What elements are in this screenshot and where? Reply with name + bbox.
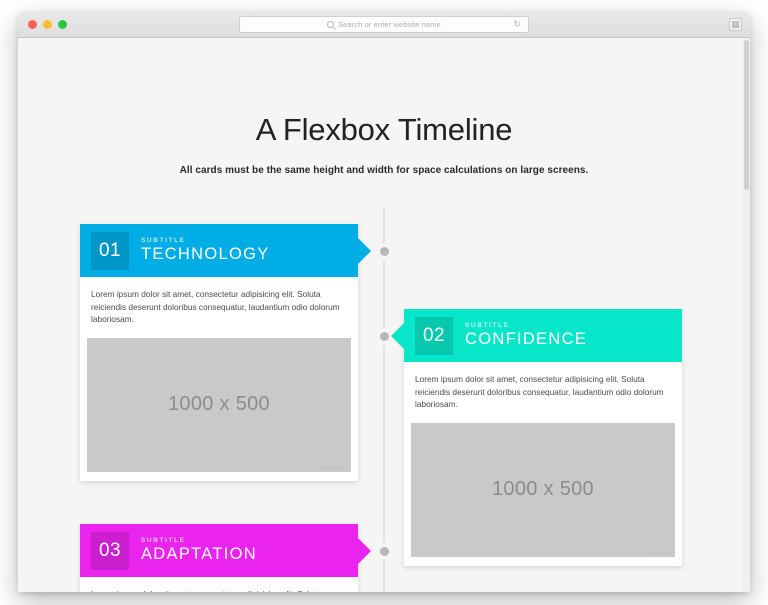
timeline: 01 SUBTITLE TECHNOLOGY Lorem ipsum dolor… (18, 206, 750, 592)
minimize-window-button[interactable] (43, 20, 52, 29)
window-controls (28, 20, 67, 29)
page-viewport: A Flexbox Timeline All cards must be the… (18, 38, 750, 592)
card-number-badge: 03 (91, 532, 129, 570)
timeline-dot-3 (380, 547, 389, 556)
card-subtitle: SUBTITLE (141, 238, 270, 245)
card-heading-group: SUBTITLE ADAPTATION (141, 538, 257, 564)
timeline-dot-2 (380, 332, 389, 341)
timeline-card[interactable]: 01 SUBTITLE TECHNOLOGY Lorem ipsum dolor… (80, 224, 358, 481)
card-heading-group: SUBTITLE TECHNOLOGY (141, 238, 270, 264)
page-title: A Flexbox Timeline (18, 112, 750, 148)
scrollbar-thumb[interactable] (744, 40, 749, 190)
timeline-card[interactable]: 03 SUBTITLE ADAPTATION Lorem ipsum dolor… (80, 524, 358, 592)
card-number-badge: 02 (415, 317, 453, 355)
placeholder-watermark: placeholder.com (319, 466, 347, 470)
card-text: Lorem ipsum dolor sit amet, consectetur … (415, 373, 671, 411)
search-icon (327, 21, 334, 28)
card-number-badge: 01 (91, 232, 129, 270)
card-subtitle: SUBTITLE (465, 323, 587, 330)
browser-titlebar: Search or enter website name ↻ ▦ (18, 12, 750, 38)
address-bar[interactable]: Search or enter website name ↻ (239, 16, 529, 33)
card-title: TECHNOLOGY (141, 246, 270, 263)
card-header: 03 SUBTITLE ADAPTATION (80, 524, 358, 577)
card-image-placeholder: 1000 x 500 placeholder.com (87, 338, 351, 472)
card-body: Lorem ipsum dolor sit amet, consectetur … (80, 577, 358, 592)
page-subtitle: All cards must be the same height and wi… (18, 165, 750, 176)
card-text: Lorem ipsum dolor sit amet, consectetur … (91, 588, 347, 592)
card-subtitle: SUBTITLE (141, 538, 257, 545)
placeholder-watermark: placeholder.com (643, 551, 671, 555)
card-title: CONFIDENCE (465, 331, 587, 348)
card-header: 02 SUBTITLE CONFIDENCE (404, 309, 682, 362)
browser-window: Search or enter website name ↻ ▦ A Flexb… (18, 12, 750, 592)
card-title: ADAPTATION (141, 546, 257, 563)
timeline-card[interactable]: 02 SUBTITLE CONFIDENCE Lorem ipsum dolor… (404, 309, 682, 566)
tab-overview-icon[interactable]: ▦ (729, 18, 742, 31)
placeholder-dimensions-label: 1000 x 500 (168, 393, 270, 416)
timeline-dot-1 (380, 247, 389, 256)
card-header: 01 SUBTITLE TECHNOLOGY (80, 224, 358, 277)
placeholder-dimensions-label: 1000 x 500 (492, 478, 594, 501)
card-image-placeholder: 1000 x 500 placeholder.com (411, 423, 675, 557)
card-body: Lorem ipsum dolor sit amet, consectetur … (404, 362, 682, 411)
timeline-spine (383, 206, 385, 592)
page-header: A Flexbox Timeline All cards must be the… (18, 38, 750, 176)
reload-icon[interactable]: ↻ (513, 20, 521, 29)
close-window-button[interactable] (28, 20, 37, 29)
desktop-background: Search or enter website name ↻ ▦ A Flexb… (0, 0, 768, 605)
card-text: Lorem ipsum dolor sit amet, consectetur … (91, 288, 347, 326)
address-bar-placeholder: Search or enter website name (338, 20, 441, 29)
card-heading-group: SUBTITLE CONFIDENCE (465, 323, 587, 349)
card-body: Lorem ipsum dolor sit amet, consectetur … (80, 277, 358, 326)
page-scrollbar[interactable] (742, 38, 750, 592)
maximize-window-button[interactable] (58, 20, 67, 29)
